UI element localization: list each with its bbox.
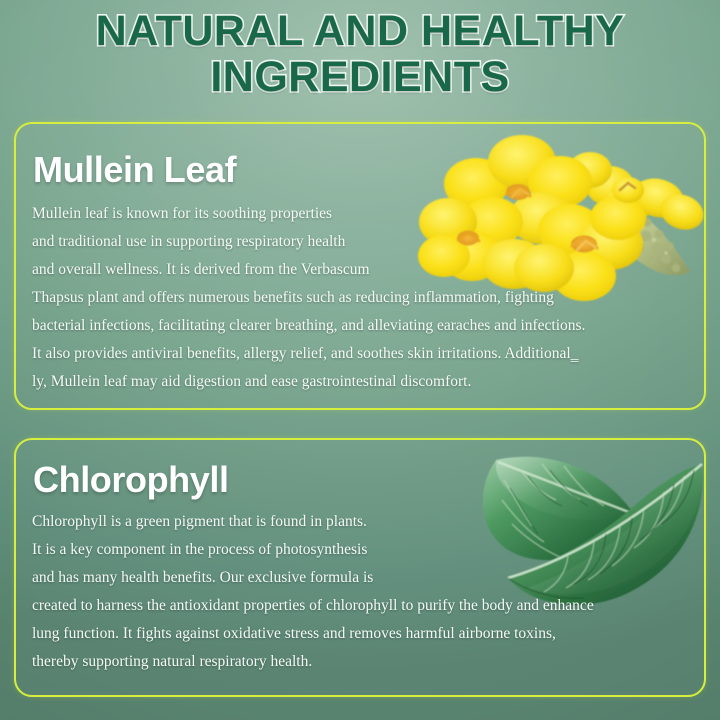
- poster-title: NATURAL AND HEALTHY INGREDIENTS: [0, 8, 720, 100]
- body-line: and traditional use in supporting respir…: [32, 228, 690, 256]
- card-title-mullein-leaf: Mullein Leaf: [33, 150, 236, 190]
- body-line: Thapsus plant and offers numerous benefi…: [32, 284, 690, 312]
- body-line: and has many health benefits. Our exclus…: [32, 564, 690, 592]
- ingredient-card-chlorophyll: Chlorophyll Chlorophyll is a green pigme…: [14, 438, 706, 697]
- body-line: It also provides antiviral benefits, all…: [32, 340, 690, 368]
- body-line: Chlorophyll is a green pigment that is f…: [32, 508, 690, 536]
- card-body-chlorophyll: Chlorophyll is a green pigment that is f…: [32, 508, 690, 676]
- body-line: Mullein leaf is known for its soothing p…: [32, 200, 690, 228]
- poster-title-line-2: INGREDIENTS: [0, 54, 720, 100]
- ingredient-card-mullein-leaf: Mullein Leaf Mullein leaf is known for i…: [14, 122, 706, 410]
- poster-canvas: NATURAL AND HEALTHY INGREDIENTS: [0, 0, 720, 720]
- body-line: lung function. It fights against oxidati…: [32, 620, 690, 648]
- body-line: created to harness the antioxidant prope…: [32, 592, 690, 620]
- body-line: and overall wellness. It is derived from…: [32, 256, 690, 284]
- card-body-mullein-leaf: Mullein leaf is known for its soothing p…: [32, 200, 690, 396]
- poster-title-line-1: NATURAL AND HEALTHY: [0, 8, 720, 54]
- body-line: bacterial infections, facilitating clear…: [32, 312, 690, 340]
- body-line: It is a key component in the process of …: [32, 536, 690, 564]
- card-title-chlorophyll: Chlorophyll: [33, 460, 229, 500]
- body-line: ly, Mullein leaf may aid digestion and e…: [32, 368, 690, 396]
- body-line: thereby supporting natural respiratory h…: [32, 648, 690, 676]
